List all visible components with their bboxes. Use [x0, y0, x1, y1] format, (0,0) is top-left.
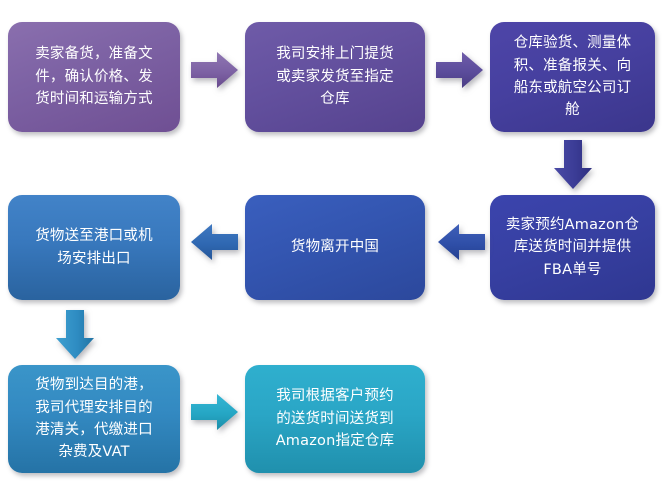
connector-arrow-5 [190, 222, 238, 262]
flow-node-6-label: 货物送至港口或机 场安排出口 [20, 225, 168, 270]
flow-node-2[interactable]: 我司安排上门提货 或卖家发货至指定 仓库 [245, 22, 425, 132]
flow-node-7[interactable]: 货物到达目的港， 我司代理安排目的 港清关，代缴进口 杂费及VAT [8, 365, 180, 473]
flow-node-8[interactable]: 我司根据客户预约 的送货时间送货到 Amazon指定仓库 [245, 365, 425, 473]
flow-node-8-label: 我司根据客户预约 的送货时间送货到 Amazon指定仓库 [257, 385, 413, 452]
connector-arrow-1 [191, 50, 239, 90]
connector-arrow-2 [436, 50, 484, 90]
connector-arrow-4 [437, 222, 485, 262]
flow-node-7-label: 货物到达目的港， 我司代理安排目的 港清关，代缴进口 杂费及VAT [20, 374, 168, 464]
flow-node-6[interactable]: 货物送至港口或机 场安排出口 [8, 195, 180, 300]
flow-node-2-label: 我司安排上门提货 或卖家发货至指定 仓库 [257, 43, 413, 110]
flow-node-5-label: 货物离开中国 [257, 236, 413, 258]
connector-arrow-7 [191, 392, 239, 432]
flow-node-1[interactable]: 卖家备货，准备文 件，确认价格、发 货时间和运输方式 [8, 22, 180, 132]
flowchart-canvas: 卖家备货，准备文 件，确认价格、发 货时间和运输方式 我司安排上门提货 或卖家发… [0, 0, 665, 495]
flow-node-5[interactable]: 货物离开中国 [245, 195, 425, 300]
connector-arrow-3 [552, 140, 594, 190]
connector-arrow-6 [54, 310, 96, 360]
flow-node-4-label: 卖家预约Amazon仓 库送货时间并提供 FBA单号 [502, 214, 643, 281]
flow-node-3-label: 仓库验货、测量体 积、准备报关、向 船东或航空公司订 舱 [502, 32, 643, 122]
flow-node-1-label: 卖家备货，准备文 件，确认价格、发 货时间和运输方式 [20, 43, 168, 110]
flow-node-4[interactable]: 卖家预约Amazon仓 库送货时间并提供 FBA单号 [490, 195, 655, 300]
flow-node-3[interactable]: 仓库验货、测量体 积、准备报关、向 船东或航空公司订 舱 [490, 22, 655, 132]
